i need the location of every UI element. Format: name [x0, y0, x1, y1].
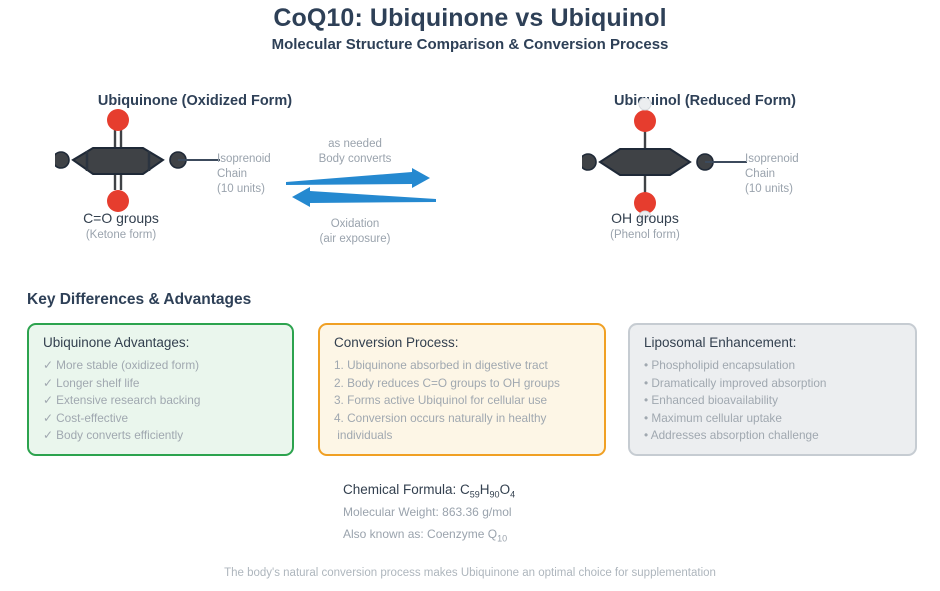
ubiquinone-caption: C=O groups — [1, 210, 241, 226]
also-known-as-sub: 10 — [497, 533, 507, 543]
card-conversion-process: Conversion Process: 1. Ubiquinone absorb… — [318, 323, 606, 456]
footer-note: The body's natural conversion process ma… — [0, 567, 940, 579]
list-item: 4. Conversion occurs naturally in health… — [334, 410, 592, 428]
ubiquinone-chain-label: Isoprenoid Chain (10 units) — [217, 152, 271, 197]
section-heading: Key Differences & Advantages — [27, 291, 251, 309]
conversion-arrow-svg — [286, 168, 436, 210]
card-ubiquinone-advantages: Ubiquinone Advantages: ✓ More stable (ox… — [27, 323, 294, 456]
chemical-formula-sub-h: 90 — [490, 490, 500, 500]
ubiquinone-chain-label-line1: Isoprenoid Chain — [217, 152, 271, 182]
ubiquinol-chain-label-line2: (10 units) — [745, 182, 799, 197]
ubiquinol-caption: OH groups — [525, 210, 765, 226]
chemical-formula-sub-c: 59 — [470, 490, 480, 500]
list-item: 3. Forms active Ubiquinol for cellular u… — [334, 392, 592, 410]
list-item: ✓ Extensive research backing — [43, 392, 280, 410]
list-item: 1. Ubiquinone absorbed in digestive trac… — [334, 357, 592, 375]
list-item: • Addresses absorption challenge — [644, 427, 903, 445]
card-conversion-process-title: Conversion Process: — [334, 335, 592, 350]
reverse-arrow-label-line2: (air exposure) — [280, 233, 430, 245]
diagram-canvas: CoQ10: Ubiquinone vs Ubiquinol Molecular… — [0, 0, 940, 591]
ubiquinol-chain-label: Isoprenoid Chain (10 units) — [745, 152, 799, 197]
chemical-formula-o: O — [500, 482, 511, 497]
ubiquinol-chain-label-line1: Isoprenoid Chain — [745, 152, 799, 182]
forward-arrow-label-line1: as needed — [280, 138, 430, 150]
card-liposomal-enhancement-title: Liposomal Enhancement: — [644, 335, 903, 350]
ubiquinone-structure-svg — [55, 108, 225, 213]
also-known-as: Also known as: Coenzyme Q10 — [343, 527, 507, 543]
list-item: • Enhanced bioavailability — [644, 392, 903, 410]
list-item: individuals — [334, 427, 592, 445]
ubiquinone-chain-label-line2: (10 units) — [217, 182, 271, 197]
also-known-as-label: Also known as: Coenzyme Q — [343, 527, 497, 541]
list-item: ✓ Longer shelf life — [43, 375, 280, 393]
chemical-formula: Chemical Formula: C59H90O4 — [343, 482, 515, 500]
ubiquinol-structure-svg — [582, 98, 752, 220]
card-liposomal-enhancement-list: • Phospholipid encapsulation • Dramatica… — [644, 357, 903, 445]
list-item: 2. Body reduces C=O groups to OH groups — [334, 375, 592, 393]
card-conversion-process-list: 1. Ubiquinone absorbed in digestive trac… — [334, 357, 592, 445]
forward-arrow-label-line2: Body converts — [280, 153, 430, 165]
chemical-formula-h: H — [480, 482, 490, 497]
ubiquinone-subcaption: (Ketone form) — [1, 229, 241, 241]
list-item: ✓ Cost-effective — [43, 410, 280, 428]
list-item: ✓ Body converts efficiently — [43, 427, 280, 445]
chemical-formula-sub-o: 4 — [510, 490, 515, 500]
molecular-weight: Molecular Weight: 863.36 g/mol — [343, 505, 512, 519]
list-item: • Dramatically improved absorption — [644, 375, 903, 393]
page-subtitle: Molecular Structure Comparison & Convers… — [0, 36, 940, 53]
chemical-formula-label: Chemical Formula: C — [343, 482, 470, 497]
reverse-arrow-label-line1: Oxidation — [280, 218, 430, 230]
ubiquinone-title: Ubiquinone (Oxidized Form) — [25, 93, 365, 109]
card-liposomal-enhancement: Liposomal Enhancement: • Phospholipid en… — [628, 323, 917, 456]
ubiquinol-subcaption: (Phenol form) — [525, 229, 765, 241]
card-ubiquinone-advantages-list: ✓ More stable (oxidized form) ✓ Longer s… — [43, 357, 280, 445]
list-item: • Phospholipid encapsulation — [644, 357, 903, 375]
list-item: • Maximum cellular uptake — [644, 410, 903, 428]
page-title: CoQ10: Ubiquinone vs Ubiquinol — [0, 4, 940, 33]
card-ubiquinone-advantages-title: Ubiquinone Advantages: — [43, 335, 280, 350]
list-item: ✓ More stable (oxidized form) — [43, 357, 280, 375]
